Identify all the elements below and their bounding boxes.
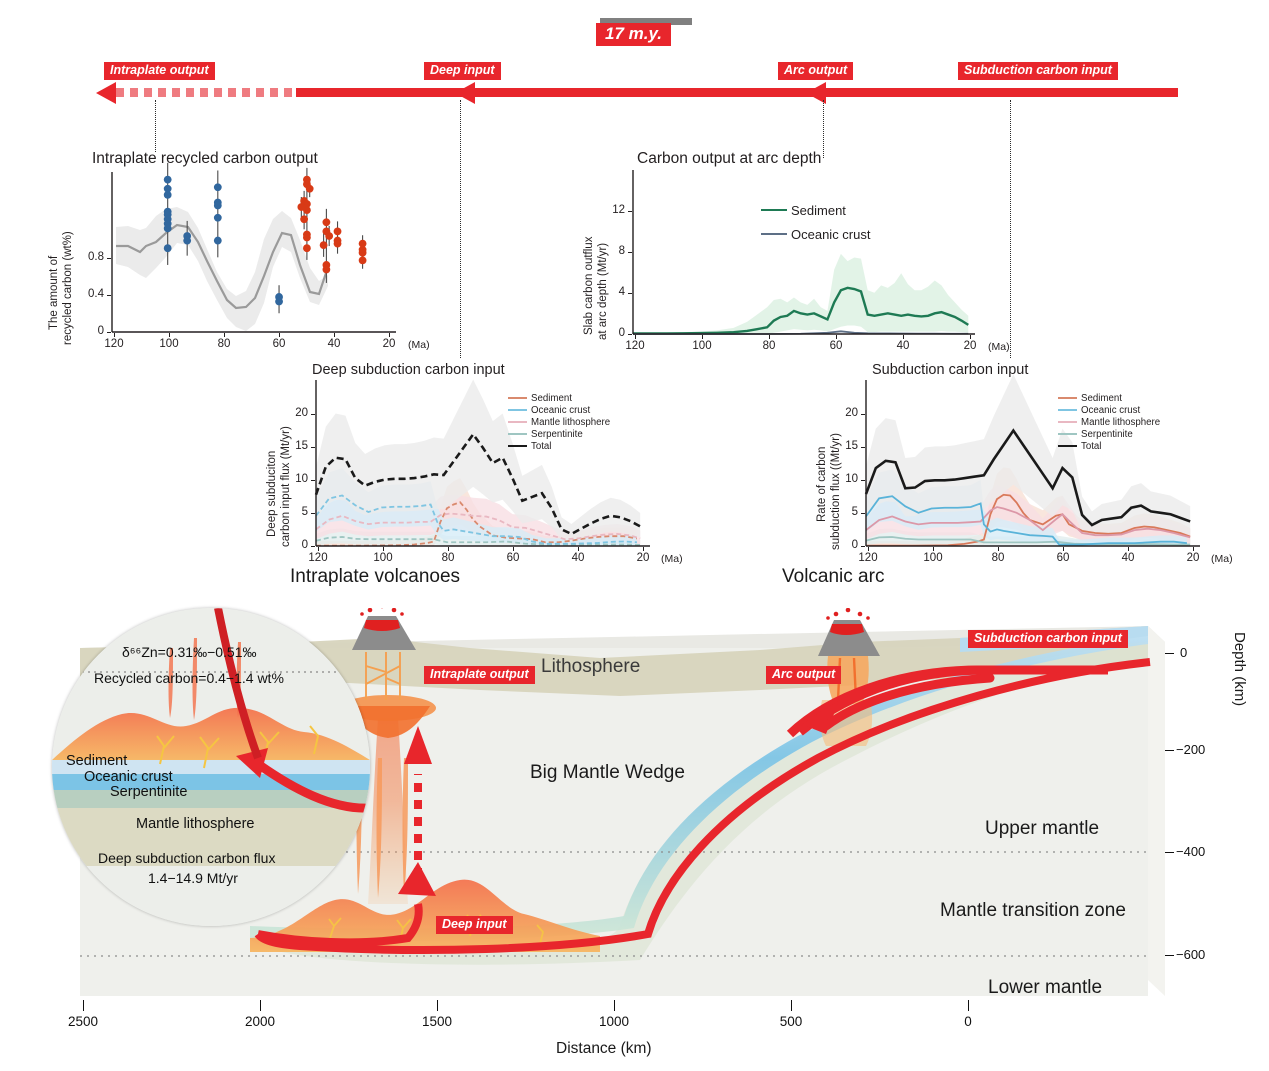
- ytick-20: 20: [834, 407, 858, 419]
- xtick-20: 20: [954, 340, 986, 352]
- xtick-80: 80: [432, 552, 464, 564]
- timeline-banner: 17 m.y. Intraplate output Deep input Arc…: [0, 0, 1269, 130]
- depth-tick: [1165, 955, 1174, 956]
- xtick-60: 60: [820, 340, 852, 352]
- magnified-slab-inset: δ⁶⁶Zn=0.31‰−0.51‰ Recycled carbon=0.4−1.…: [52, 608, 370, 926]
- xtick-120: 120: [302, 552, 334, 564]
- timeline-arrowhead: [96, 82, 116, 104]
- section-tag-subduction-carbon-input: Subduction carbon input: [968, 630, 1128, 648]
- ytick-08: 0.8: [78, 251, 104, 263]
- ytick-0: 0: [290, 539, 308, 551]
- chart-deep-subduction-carbon-input: Deep subduction carbon input Deep subduc…: [250, 362, 680, 562]
- legend-swatch-oceanic-crust: [1058, 409, 1077, 411]
- legend-swatch-total: [1058, 445, 1077, 448]
- legend-label-serpentinite: Serpentinite: [1081, 429, 1133, 440]
- chart-plot-area: [565, 150, 1015, 360]
- chart-xunit: (Ma): [988, 341, 1010, 353]
- chart-plot-area: [800, 362, 1230, 562]
- ytick-20: 20: [284, 407, 308, 419]
- block-right-face: [1148, 626, 1165, 996]
- distance-tick: [260, 1000, 261, 1011]
- legend-label-oceanic-crust: Oceanic crust: [531, 405, 590, 416]
- xtick-120: 120: [98, 338, 130, 350]
- xtick-80: 80: [208, 338, 240, 350]
- legend-swatch-oceanic-crust: [761, 233, 787, 235]
- xtick-80: 80: [753, 340, 785, 352]
- legend-label-oceanic-crust: Oceanic crust: [1081, 405, 1140, 416]
- inset-recycled-carbon-value: Recycled carbon=0.4−1.4 wt%: [94, 670, 284, 686]
- timeline-label-deep-input: Deep input: [424, 62, 501, 80]
- legend-swatch-mantle-lithosphere: [1058, 421, 1077, 423]
- connector-intraplate: [155, 100, 156, 152]
- chart-xunit: (Ma): [661, 553, 683, 565]
- legend-swatch-sediment: [1058, 397, 1077, 399]
- legend-label-oceanic-crust: Oceanic crust: [791, 227, 870, 242]
- region-label-mantle-transition-zone: Mantle transition zone: [940, 900, 1126, 922]
- inset-layer-label-oceanic-crust: Oceanic crust: [84, 769, 173, 785]
- volcano-label-intraplate: Intraplate volcanoes: [290, 566, 460, 588]
- legend-label-mantle-lithosphere: Mantle lithosphere: [1081, 417, 1160, 428]
- chart-legend: Sediment Oceanic crust: [761, 198, 870, 246]
- legend-swatch-oceanic-crust: [508, 409, 527, 411]
- connector-deep-input: [460, 100, 461, 358]
- distance-tick: [791, 1000, 792, 1011]
- ytick-5: 5: [840, 506, 858, 518]
- depth-tick: [1165, 852, 1174, 853]
- legend-label-sediment: Sediment: [791, 203, 846, 218]
- depth-tick: [1165, 750, 1174, 751]
- legend-swatch-total: [508, 445, 527, 448]
- fit-confidence-band: [116, 207, 328, 331]
- timeline-label-intraplate-output: Intraplate output: [104, 62, 215, 80]
- distance-tick-label-1000: 1000: [599, 1014, 629, 1029]
- chart-legend: Sediment Oceanic crust Mantle lithospher…: [1058, 392, 1160, 452]
- ytick-4: 4: [607, 286, 625, 298]
- legend-swatch-serpentinite: [508, 433, 527, 435]
- depth-tick: [1165, 653, 1174, 654]
- inset-flux-label-line1: Deep subduction carbon flux: [98, 850, 275, 866]
- chart-subduction-carbon-input: Subduction carbon input Rate of carbon s…: [800, 362, 1230, 562]
- ytick-04: 0.4: [78, 288, 104, 300]
- legend-swatch-mantle-lithosphere: [508, 421, 527, 423]
- legend-swatch-sediment: [761, 209, 787, 212]
- legend-label-total: Total: [1081, 441, 1101, 452]
- inset-flux-label-line2: 1.4−14.9 Mt/yr: [148, 870, 238, 886]
- timeline-label-arc-output: Arc output: [778, 62, 853, 80]
- legend-label-mantle-lithosphere: Mantle lithosphere: [531, 417, 610, 428]
- xtick-20: 20: [373, 338, 405, 350]
- sediment-uncertainty-band: [633, 254, 968, 334]
- ytick-0: 0: [840, 539, 858, 551]
- distance-tick: [614, 1000, 615, 1011]
- ytick-0: 0: [607, 327, 625, 339]
- region-label-lower-mantle: Lower mantle: [988, 977, 1102, 999]
- region-label-lithosphere: Lithosphere: [541, 656, 640, 678]
- xtick-120: 120: [619, 340, 651, 352]
- xtick-60: 60: [497, 552, 529, 564]
- xtick-100: 100: [917, 552, 949, 564]
- chart-xunit: (Ma): [408, 339, 430, 351]
- ytick-5: 5: [290, 506, 308, 518]
- timeline-arrow-dashed-segment: [116, 88, 296, 97]
- chart-carbon-output-at-arc-depth: Carbon output at arc depth Slab carbon o…: [565, 150, 1015, 360]
- chart-plot-area: [250, 362, 680, 562]
- timeline-label-subduction-carbon-input: Subduction carbon input: [958, 62, 1118, 80]
- timeline-arrow-solid-segment: [296, 88, 1178, 97]
- ytick-0: 0: [86, 325, 104, 337]
- section-tag-arc-output: Arc output: [766, 666, 841, 684]
- inset-zinc-isotope-value: δ⁶⁶Zn=0.31‰−0.51‰: [122, 644, 257, 660]
- xtick-80: 80: [982, 552, 1014, 564]
- timeline-inner-arrowhead: [455, 82, 475, 104]
- distance-tick-label-1500: 1500: [422, 1014, 452, 1029]
- inset-layer-label-mantle-lithosphere: Mantle lithosphere: [136, 816, 255, 832]
- ytick-12: 12: [601, 204, 625, 216]
- ytick-15: 15: [834, 440, 858, 452]
- depth-axis-title: Depth (km): [1231, 632, 1248, 706]
- legend-label-serpentinite: Serpentinite: [531, 429, 583, 440]
- ytick-10: 10: [834, 473, 858, 485]
- region-label-upper-mantle: Upper mantle: [985, 818, 1099, 840]
- distance-tick-label-2500: 2500: [68, 1014, 98, 1029]
- distance-tick-label-500: 500: [780, 1014, 803, 1029]
- chart-intraplate-recycled-carbon-output: Intraplate recycled carbon output The am…: [30, 150, 450, 360]
- duration-badge: 17 m.y.: [596, 23, 671, 46]
- xtick-20: 20: [1177, 552, 1209, 564]
- ytick-15: 15: [284, 440, 308, 452]
- xtick-120: 120: [852, 552, 884, 564]
- distance-tick: [83, 1000, 84, 1011]
- ytick-8: 8: [607, 245, 625, 257]
- xtick-40: 40: [887, 340, 919, 352]
- xtick-60: 60: [263, 338, 295, 350]
- depth-tick-label-400: −400: [1176, 844, 1205, 859]
- legend-swatch-sediment: [508, 397, 527, 399]
- distance-axis-title: Distance (km): [556, 1040, 652, 1058]
- section-tag-deep-input: Deep input: [436, 916, 513, 934]
- distance-tick-label-0: 0: [964, 1014, 972, 1029]
- inset-layer-label-sediment: Sediment: [66, 753, 127, 769]
- legend-swatch-serpentinite: [1058, 433, 1077, 435]
- xtick-40: 40: [318, 338, 350, 350]
- xtick-20: 20: [627, 552, 659, 564]
- volcano-label-arc: Volcanic arc: [782, 566, 884, 588]
- xtick-100: 100: [686, 340, 718, 352]
- xtick-100: 100: [153, 338, 185, 350]
- region-label-big-mantle-wedge: Big Mantle Wedge: [530, 762, 685, 784]
- distance-tick-label-2000: 2000: [245, 1014, 275, 1029]
- legend-label-sediment: Sediment: [1081, 393, 1122, 404]
- legend-label-total: Total: [531, 441, 551, 452]
- depth-tick-label-600: −600: [1176, 947, 1205, 962]
- depth-tick-label-0: 0: [1180, 645, 1187, 660]
- xtick-40: 40: [1112, 552, 1144, 564]
- inset-layer-label-serpentinite: Serpentinite: [110, 784, 187, 800]
- depth-tick-label-200: −200: [1176, 742, 1205, 757]
- distance-tick: [437, 1000, 438, 1011]
- ytick-10: 10: [284, 473, 308, 485]
- chart-xunit: (Ma): [1211, 553, 1233, 565]
- distance-tick: [968, 1000, 969, 1011]
- xtick-60: 60: [1047, 552, 1079, 564]
- legend-label-sediment: Sediment: [531, 393, 572, 404]
- xtick-40: 40: [562, 552, 594, 564]
- xtick-100: 100: [367, 552, 399, 564]
- chart-legend: Sediment Oceanic crust Mantle lithospher…: [508, 392, 610, 452]
- section-tag-intraplate-output: Intraplate output: [424, 666, 535, 684]
